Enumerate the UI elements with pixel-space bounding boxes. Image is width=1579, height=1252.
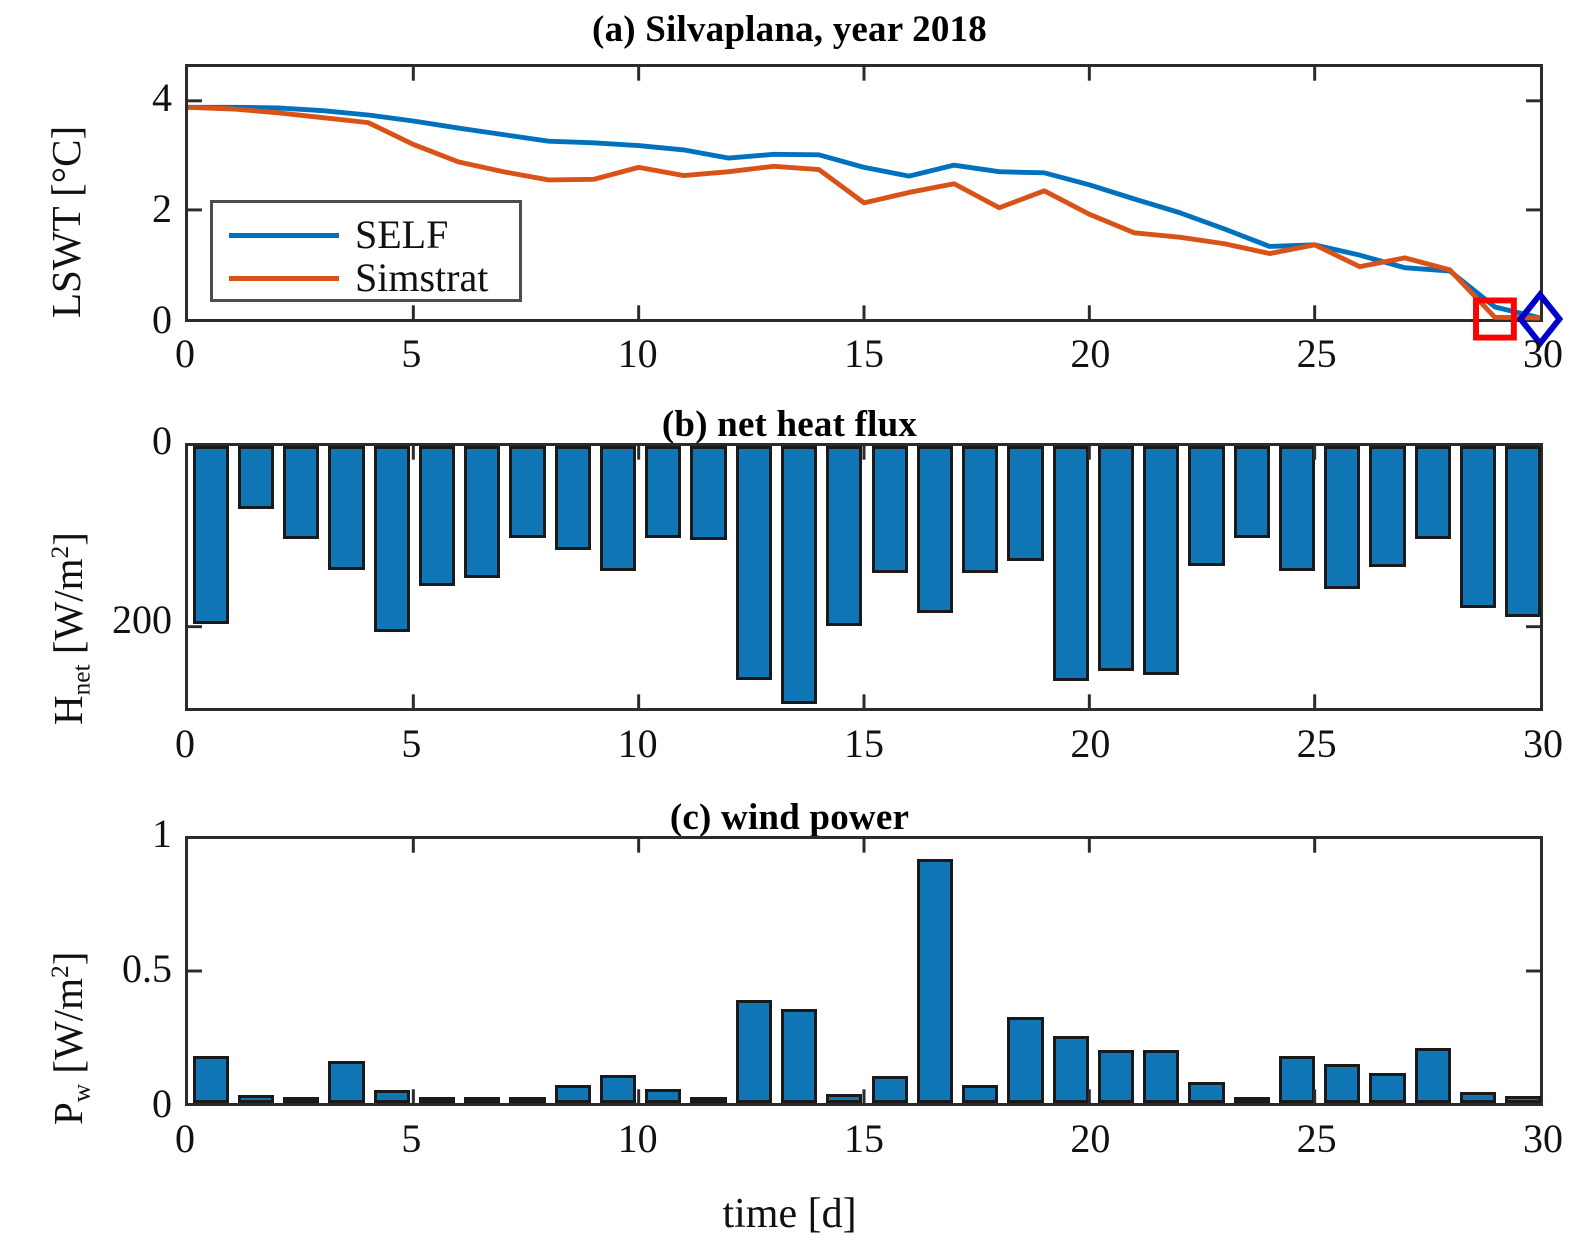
xtick-label-5: 5 (366, 1115, 456, 1162)
panel-b-ytick-200: 200 (60, 596, 172, 643)
panel-b-title: (b) net heat flux (0, 403, 1579, 446)
xtick-label-25: 25 (1272, 720, 1362, 767)
xtick-label-15: 15 (819, 1115, 909, 1162)
panel-a-plot-area: SELF Simstrat (185, 64, 1543, 322)
panel-a-ytick-4: 4 (128, 74, 172, 121)
xtick-label-20: 20 (1045, 1115, 1135, 1162)
panel-c-ytick-1: 1 (60, 810, 172, 857)
panel-a-ylabel-text: LSWT [ (43, 183, 89, 318)
panel-a-title: (a) Silvaplana, year 2018 (0, 8, 1579, 51)
panel-c: (c) wind power Pw [W/m2] 0 0.5 1 0510152… (0, 790, 1579, 1252)
legend-line-self (229, 233, 339, 238)
x-axis-label: time [d] (0, 1190, 1579, 1238)
legend-label-simstrat: Simstrat (355, 258, 488, 298)
xtick-label-10: 10 (593, 1115, 683, 1162)
xtick-label-5: 5 (366, 330, 456, 377)
xtick-label-25: 25 (1272, 1115, 1362, 1162)
panel-b-ytick-0: 0 (60, 417, 172, 464)
panel-b-tickmarks (188, 446, 1540, 708)
panel-c-ylabel-unit-open: [W/m (45, 978, 91, 1084)
xtick-label-10: 10 (593, 720, 683, 767)
xtick-label-25: 25 (1272, 330, 1362, 377)
panel-c-tickmarks (188, 839, 1540, 1103)
xtick-label-30: 30 (1498, 1115, 1579, 1162)
panel-b-ylabel-sub: net (68, 664, 96, 695)
panel-a-legend: SELF Simstrat (210, 200, 522, 302)
xtick-label-0: 0 (140, 330, 230, 377)
panel-c-plot-area (185, 836, 1543, 1106)
xtick-label-10: 10 (593, 330, 683, 377)
panel-a-ytick-2: 2 (128, 185, 172, 232)
legend-entry-self: SELF (229, 215, 448, 255)
xtick-label-15: 15 (819, 330, 909, 377)
panel-a-ylabel-unit: °C] (43, 126, 89, 183)
panel-b-ylabel-unit-close: ] (45, 532, 91, 546)
panel-a: (a) Silvaplana, year 2018 LSWT [°C] 0 2 … (0, 0, 1579, 395)
xtick-label-20: 20 (1045, 720, 1135, 767)
xtick-label-0: 0 (140, 720, 230, 767)
xtick-label-30: 30 (1498, 330, 1579, 377)
panel-b-plot-area (185, 443, 1543, 711)
xtick-label-30: 30 (1498, 720, 1579, 767)
xtick-label-20: 20 (1045, 330, 1135, 377)
panel-c-ytick-05: 0.5 (60, 945, 172, 992)
xtick-label-5: 5 (366, 720, 456, 767)
legend-label-self: SELF (355, 215, 448, 255)
panel-c-title: (c) wind power (0, 796, 1579, 839)
panel-b: (b) net heat flux Hnet [W/m2] 0 200 0510… (0, 395, 1579, 790)
panel-b-ylabel-unit-sup: 2 (46, 546, 74, 559)
legend-entry-simstrat: Simstrat (229, 258, 488, 298)
panel-b-ylabel-base: H (45, 695, 91, 725)
legend-line-simstrat (229, 276, 339, 281)
panel-a-ylabel: LSWT [°C] (42, 126, 90, 318)
xtick-label-15: 15 (819, 720, 909, 767)
xtick-label-0: 0 (140, 1115, 230, 1162)
